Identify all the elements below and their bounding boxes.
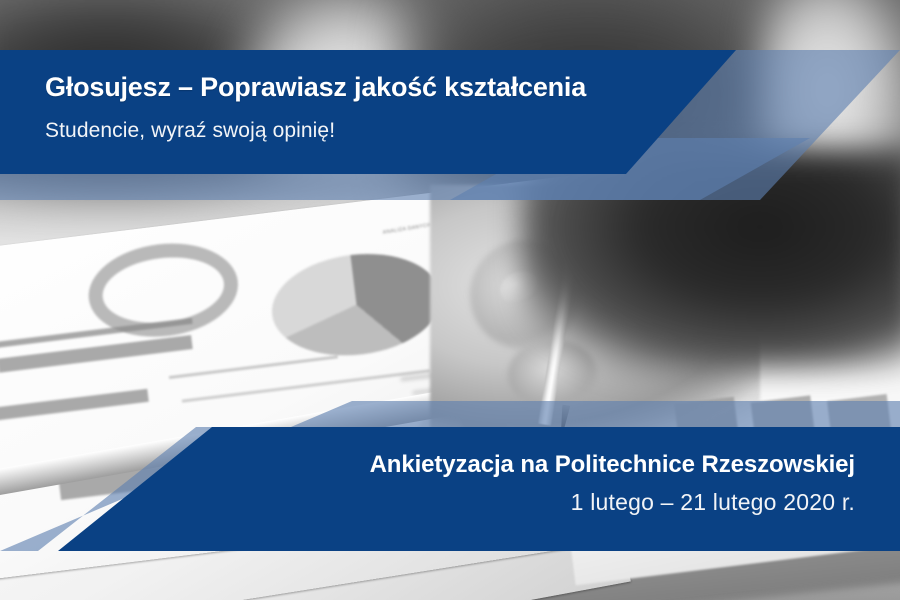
footer-title: Ankietyzacja na Politechnice Rzeszowskie… bbox=[370, 451, 855, 479]
photo-microtext: ANALIZA DANYCH bbox=[383, 222, 432, 236]
footer-date-range: 1 lutego – 21 lutego 2020 r. bbox=[571, 489, 855, 516]
promo-poster: 2016 2017 2018 2019 ANALIZA DANYCH 38 74… bbox=[0, 0, 900, 600]
photo-bar bbox=[0, 389, 149, 429]
photo-pie-chart bbox=[266, 245, 447, 365]
header-subtitle: Studencie, wyraź swoją opinię! bbox=[45, 119, 335, 143]
header-title: Głosujesz – Poprawiasz jakość kształceni… bbox=[45, 72, 586, 103]
photo-rule bbox=[169, 355, 338, 379]
photo-rule bbox=[182, 369, 431, 402]
